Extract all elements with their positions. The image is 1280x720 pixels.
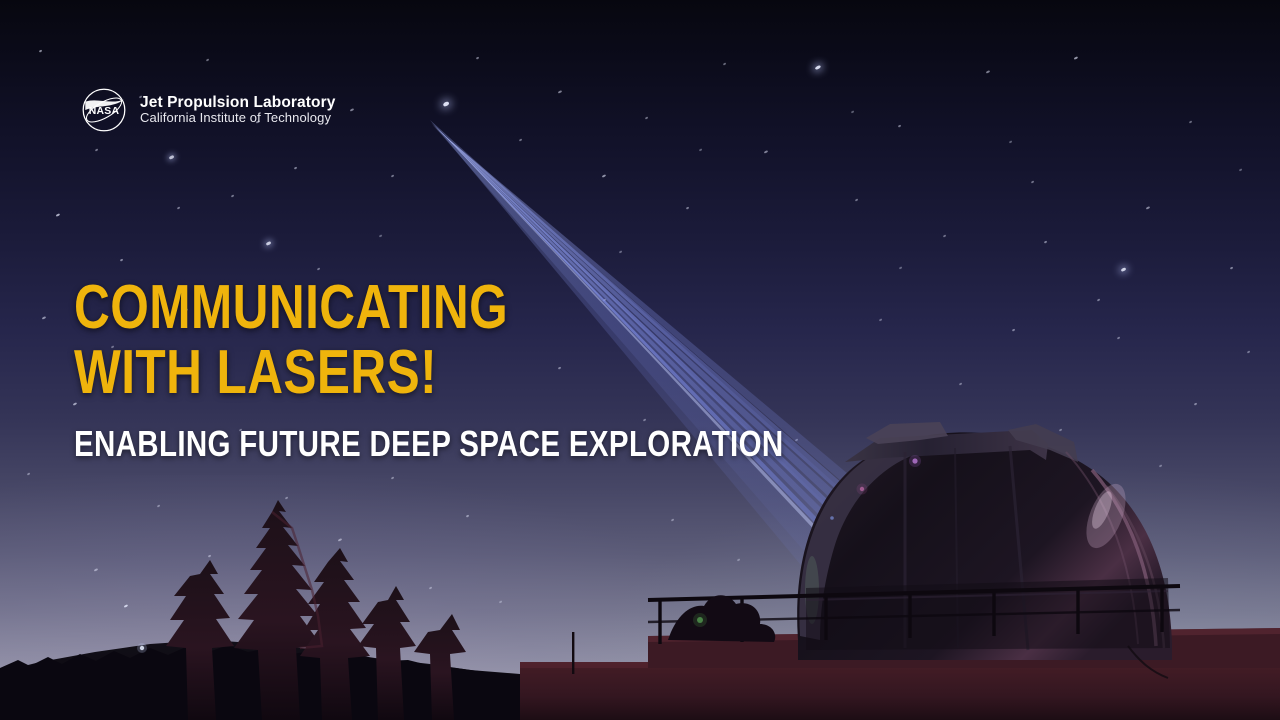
title-block: COMMUNICATING WITH LASERS! ENABLING FUTU… [74,278,834,462]
svg-text:NASA: NASA [89,106,120,117]
title-line-1: COMMUNICATING [74,278,682,339]
logo-org-line: Jet Propulsion Laboratory [140,95,335,112]
title-line-2: WITH LASERS! [74,343,682,404]
subtitle: ENABLING FUTURE DEEP SPACE EXPLORATION [74,426,697,462]
nasa-meatball-icon: NASA [78,84,130,136]
jpl-logo[interactable]: NASA Jet Propulsion Laboratory Californi… [78,84,335,136]
logo-institution-line: California Institute of Technology [140,111,335,125]
title-card-stage: NASA Jet Propulsion Laboratory Californi… [0,0,1280,720]
